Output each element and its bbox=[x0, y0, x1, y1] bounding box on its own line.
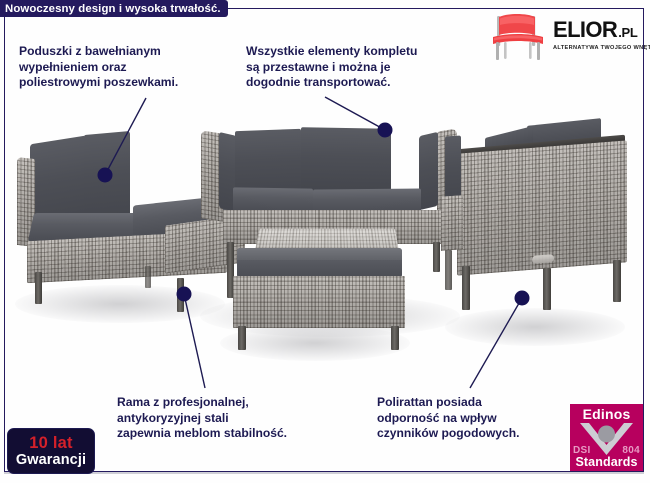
callout-modular: Wszystkie elementy kompletu są przestawn… bbox=[246, 44, 461, 91]
steel-leg bbox=[227, 242, 234, 270]
logo-wordmark: ELIOR.PL ALTERNATYWA TWOJEGO WNĘTRZA bbox=[553, 18, 637, 51]
logo-tagline: ALTERNATYWA TWOJEGO WNĘTRZA bbox=[553, 45, 637, 51]
warranty-badge: 10 lat Gwarancji bbox=[7, 428, 95, 474]
callout-text: Polirattan posiada odporność na wpływ cz… bbox=[377, 395, 577, 442]
warranty-label: Gwarancji bbox=[16, 452, 86, 468]
brand-label bbox=[532, 254, 554, 264]
warranty-years: 10 lat bbox=[29, 435, 72, 452]
callout-text: Poduszki z bawełnianym wypełnieniem oraz… bbox=[19, 44, 234, 91]
red-chair-icon bbox=[487, 13, 549, 61]
product-photo bbox=[5, 100, 643, 380]
floor-shadow bbox=[220, 325, 410, 361]
logo-brand-text: ELIOR bbox=[553, 18, 617, 41]
badge-label: Standards bbox=[570, 455, 643, 469]
callout-text: Rama z profesjonalnej, antykoryzyjnej st… bbox=[117, 395, 332, 442]
headline-banner: Nowoczesny design i wysoka trwałość. bbox=[0, 0, 228, 17]
badge-title: Edinos bbox=[570, 406, 643, 422]
cushion-backrest bbox=[301, 127, 391, 193]
cushion-side bbox=[445, 135, 461, 202]
floor-shadow bbox=[15, 285, 225, 323]
steel-leg bbox=[177, 278, 184, 312]
steel-leg bbox=[35, 272, 42, 304]
logo-tld-text: .PL bbox=[618, 21, 637, 44]
callout-steel-frame: Rama z profesjonalnej, antykoryzyjnej st… bbox=[117, 395, 332, 442]
cushion-seat bbox=[233, 187, 313, 212]
steel-leg bbox=[238, 326, 246, 350]
cushion-side bbox=[419, 132, 438, 210]
steel-leg bbox=[613, 260, 621, 302]
rattan-base bbox=[441, 195, 463, 251]
callout-cushions: Poduszki z bawełnianym wypełnieniem oraz… bbox=[19, 44, 234, 91]
cushion-seat-highlight bbox=[237, 248, 402, 260]
steel-leg bbox=[391, 326, 399, 350]
steel-leg bbox=[445, 250, 452, 290]
callout-polirattan: Polirattan posiada odporność na wpływ cz… bbox=[377, 395, 577, 442]
steel-leg bbox=[543, 268, 551, 310]
headline-text: Nowoczesny design i wysoka trwałość. bbox=[5, 3, 221, 15]
cushion-backrest bbox=[84, 131, 130, 223]
callout-text: Wszystkie elementy kompletu są przestawn… bbox=[246, 44, 461, 91]
steel-leg bbox=[462, 266, 470, 310]
brand-logo[interactable]: ELIOR.PL ALTERNATYWA TWOJEGO WNĘTRZA bbox=[487, 13, 637, 63]
frame-shadow bbox=[4, 472, 644, 474]
rattan-base bbox=[233, 276, 405, 328]
steel-leg bbox=[145, 266, 151, 288]
steel-leg bbox=[433, 242, 440, 272]
floor-shadow bbox=[445, 308, 625, 346]
certification-badge: Edinos DSI 804 Standards bbox=[570, 404, 643, 471]
product-infographic: Nowoczesny design i wysoka trwałość. ELI… bbox=[0, 0, 650, 483]
